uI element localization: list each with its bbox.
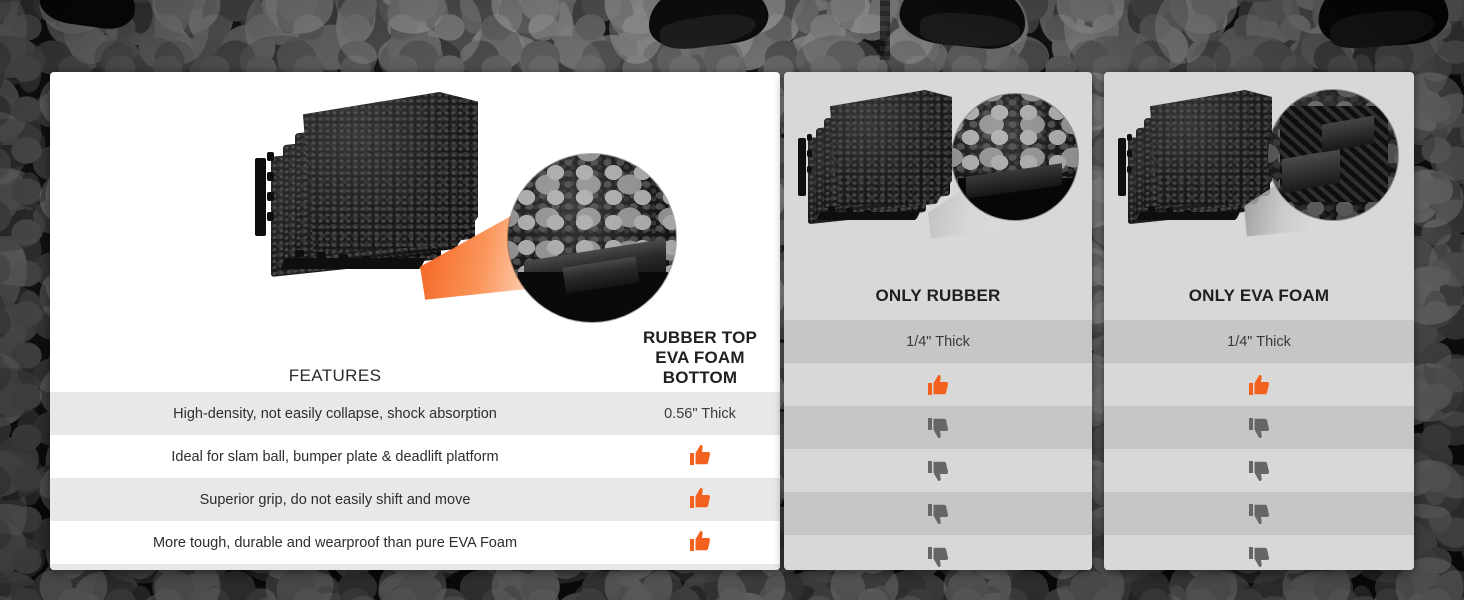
thickness-value: 0.56" Thick [620, 406, 780, 422]
thickness-value: 1/4" Thick [1227, 334, 1291, 350]
features-label: FEATURES [289, 366, 382, 385]
thumbs-up-icon [687, 529, 713, 553]
thumbs-down-icon [1246, 502, 1272, 526]
table-row [1104, 492, 1414, 535]
thumbs-down-icon [925, 459, 951, 483]
table-row: High-density, not easily collapse, shock… [50, 392, 780, 435]
product-panel-only-rubber: ONLY RUBBER 1/4" Thick [784, 72, 1092, 570]
thumbs-down-icon [925, 545, 951, 569]
rating-cell [620, 486, 780, 514]
thumbs-up-icon [687, 443, 713, 467]
rating-cell [620, 443, 780, 471]
table-row [1104, 406, 1414, 449]
table-row: 1/4" Thick [1104, 320, 1414, 363]
table-row: More tough, durable and wearproof than p… [50, 521, 780, 564]
product-title-line1: ONLY RUBBER [875, 286, 1000, 306]
table-row [1104, 449, 1414, 492]
product-panel-rubber-top-eva-bottom: FEATURES RUBBER TOP EVA FOAM BOTTOM High… [50, 72, 780, 570]
hero-image-only-rubber [784, 72, 1092, 272]
feature-label: High-density, not easily collapse, shock… [50, 406, 620, 422]
feature-label: More tough, durable and wearproof than p… [50, 535, 620, 551]
table-header-row: FEATURES RUBBER TOP EVA FOAM BOTTOM [50, 320, 780, 392]
table-row: 1/4" Thick [784, 320, 1092, 363]
features-header-cell: FEATURES [50, 366, 620, 392]
table-row: Superior grip, do not easily shift and m… [50, 478, 780, 521]
thumbs-up-icon [1246, 373, 1272, 397]
table-row [784, 492, 1092, 535]
hero-image-only-eva-foam [1104, 72, 1414, 272]
rating-cell [620, 529, 780, 557]
magnifier-detail-circle [1268, 90, 1398, 220]
feature-label: Superior grip, do not easily shift and m… [50, 492, 620, 508]
product-title-line1: RUBBER TOP [620, 328, 780, 348]
table-row: Water & dirt resistnce, easy to clean [50, 564, 780, 570]
product-title-only-eva-foam: ONLY EVA FOAM [1104, 272, 1414, 320]
table-row: Ideal for slam ball, bumper plate & dead… [50, 435, 780, 478]
magnifier-detail-circle [952, 94, 1078, 220]
thumbs-up-icon [687, 486, 713, 510]
product-title-line1: ONLY EVA FOAM [1189, 286, 1330, 306]
feature-label: Ideal for slam ball, bumper plate & dead… [50, 449, 620, 465]
thickness-value: 1/4" Thick [906, 334, 970, 350]
thumbs-down-icon [925, 416, 951, 440]
thumbs-down-icon [1246, 416, 1272, 440]
magnifier-detail-circle [508, 154, 676, 322]
thumbs-up-icon [925, 373, 951, 397]
thumbs-down-icon [1246, 459, 1272, 483]
product-title-only-rubber: ONLY RUBBER [784, 272, 1092, 320]
product-title-main: RUBBER TOP EVA FOAM BOTTOM [620, 328, 780, 392]
thumbs-down-icon [1246, 545, 1272, 569]
product-panel-only-eva-foam: ONLY EVA FOAM 1/4" Thick [1104, 72, 1414, 570]
hero-image-main [50, 72, 780, 320]
thumbs-down-icon [925, 502, 951, 526]
product-title-line2: EVA FOAM BOTTOM [620, 348, 780, 388]
table-row [784, 535, 1092, 570]
table-row [784, 449, 1092, 492]
table-row [784, 406, 1092, 449]
table-row [1104, 363, 1414, 406]
table-row [1104, 535, 1414, 570]
table-row [784, 363, 1092, 406]
